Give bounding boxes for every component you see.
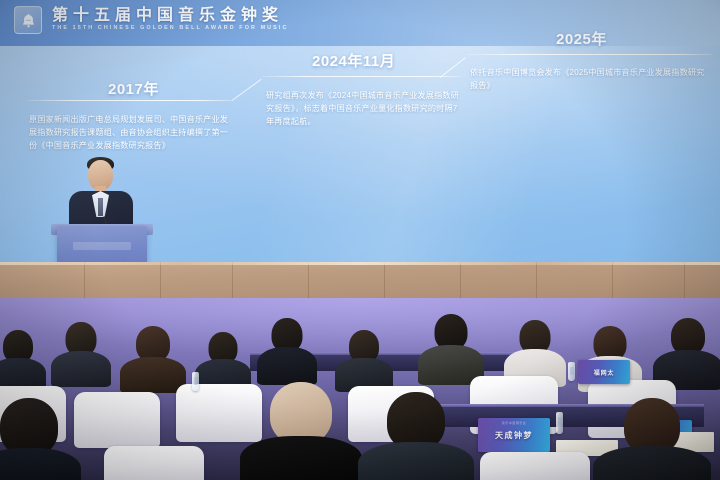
water-bottle <box>556 412 563 434</box>
audience-person <box>656 318 720 388</box>
audience-chair <box>480 452 590 480</box>
audience-person <box>196 332 250 390</box>
name-placard-label: 福网太 <box>594 368 614 377</box>
name-placard: 福网太 <box>578 360 630 384</box>
conference-photo: 第十五届中国音乐金钟奖 THE 15TH CHINESE GOLDEN BELL… <box>0 0 720 480</box>
audience-person-foreground <box>364 392 468 480</box>
audience-person-foreground <box>0 398 74 480</box>
audience-person <box>52 322 110 386</box>
golden-bell-icon <box>14 6 42 34</box>
audience-chair <box>74 392 160 448</box>
milestone-body-2025: 依托音乐中国博览会发布《2025中国城市音乐产业发展指数研究报告》 <box>470 66 710 92</box>
audience-person <box>0 330 44 390</box>
audience-person <box>336 330 392 390</box>
banner-title-cn: 第十五届中国音乐金钟奖 <box>52 8 288 25</box>
name-placard-subtitle: 音乐中国博览会 <box>502 421 527 425</box>
banner-text-group: 第十五届中国音乐金钟奖 THE 15TH CHINESE GOLDEN BELL… <box>52 8 288 31</box>
audience-person <box>258 318 316 384</box>
water-bottle <box>568 362 575 381</box>
audience-person-foreground <box>600 398 704 480</box>
speaker-tie <box>98 198 103 216</box>
audience-person-foreground <box>246 382 356 480</box>
stage-wall <box>0 262 720 298</box>
milestone-body-2017: 原国家新闻出版广电总局规划发展司、中国音乐产业发展指数研究报告课题组、由音协会组… <box>29 113 229 152</box>
banner-title-en: THE 15TH CHINESE GOLDEN BELL AWARD FOR M… <box>52 26 288 31</box>
audience-person <box>122 326 184 390</box>
milestone-year-2025: 2025年 <box>556 28 607 49</box>
milestone-year-2017: 2017年 <box>108 78 159 99</box>
name-placard-primary: 音乐中国博览会 天成钟梦 <box>478 418 550 452</box>
audience-chair <box>104 446 204 480</box>
milestone-rule-2017 <box>26 100 232 101</box>
podium-label-upper <box>73 242 131 250</box>
milestone-year-2024: 2024年11月 <box>312 50 395 71</box>
milestone-rule-2025 <box>466 54 712 55</box>
milestone-body-2024: 研究组再次发布《2024中国城市音乐产业发展指数研究报告》，标志着中国音乐产业量… <box>266 89 462 128</box>
banner-content: 第十五届中国音乐金钟奖 THE 15TH CHINESE GOLDEN BELL… <box>14 6 288 34</box>
milestone-rule-2024 <box>262 76 460 77</box>
name-placard-primary-label: 天成钟梦 <box>495 430 533 441</box>
audience-person <box>420 314 482 384</box>
water-bottle <box>192 372 199 391</box>
